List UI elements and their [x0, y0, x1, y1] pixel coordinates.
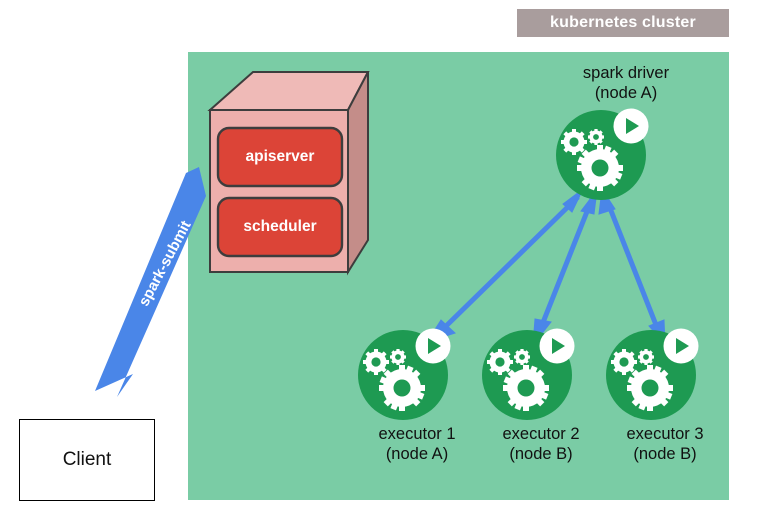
spark-driver-label-line2: (node A): [556, 83, 696, 103]
executor-2-label: executor 2 (node B): [471, 424, 611, 464]
executor-3-label-line2: (node B): [595, 444, 735, 464]
link-driver-executor-3: [599, 189, 665, 344]
link-driver-executor-2: [533, 190, 597, 345]
spark-driver-node[interactable]: [556, 109, 649, 201]
spark-driver-label-line1: spark driver: [556, 63, 696, 83]
executor-3-label: executor 3 (node B): [595, 424, 735, 464]
executor-3-node[interactable]: [606, 329, 699, 421]
executor-2-label-line2: (node B): [471, 444, 611, 464]
link-driver-executor-1: [427, 189, 583, 342]
executor-2-label-line1: executor 2: [471, 424, 611, 444]
executor-2-node[interactable]: [482, 329, 575, 421]
apiserver-label: apiserver: [218, 130, 342, 184]
diagram-canvas: kubernetes cluster Client: [0, 0, 761, 516]
executor-1-node[interactable]: [358, 329, 451, 421]
executor-1-label-line1: executor 1: [347, 424, 487, 444]
executor-1-label: executor 1 (node A): [347, 424, 487, 464]
scheduler-label: scheduler: [218, 200, 342, 254]
executor-1-label-line2: (node A): [347, 444, 487, 464]
executor-3-label-line1: executor 3: [595, 424, 735, 444]
spark-driver-label: spark driver (node A): [556, 63, 696, 103]
driver-executor-links: [427, 189, 665, 345]
